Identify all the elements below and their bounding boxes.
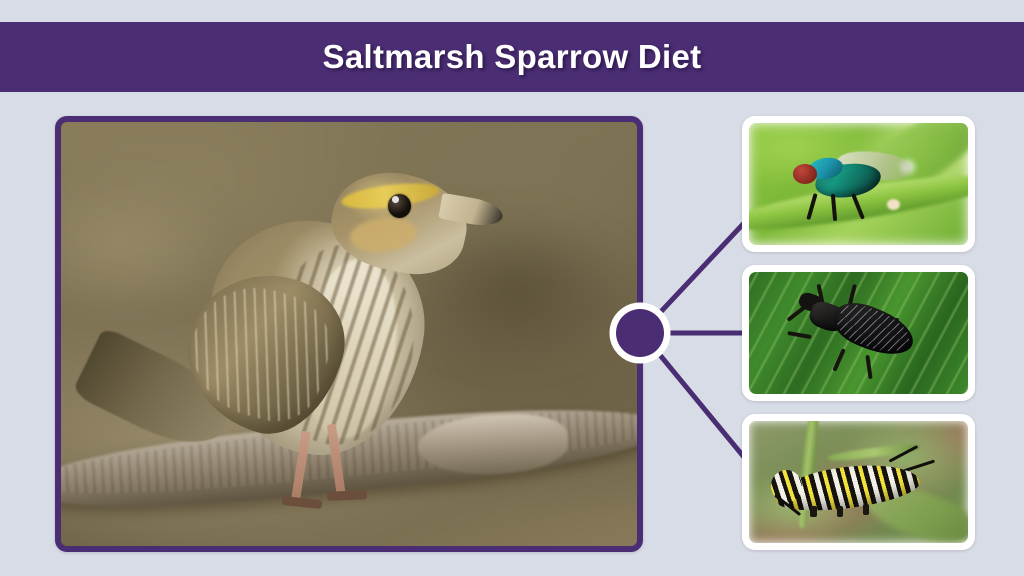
diet-item-caterpillar[interactable] <box>742 414 975 550</box>
diet-item-fly[interactable] <box>742 116 975 252</box>
fly-photo <box>749 123 968 245</box>
connector-to-fly <box>655 222 745 318</box>
diagram-canvas: Saltmarsh Sparrow Diet <box>0 0 1024 576</box>
page-title: Saltmarsh Sparrow Diet <box>323 38 702 76</box>
caterpillar-proleg-3 <box>863 504 870 515</box>
fly-dew-droplet <box>887 199 900 210</box>
sparrow-photo <box>61 122 637 546</box>
sparrow-eye-highlight <box>392 196 399 203</box>
caterpillar-photo <box>749 421 968 543</box>
title-banner: Saltmarsh Sparrow Diet <box>0 22 1024 92</box>
caterpillar-proleg-2 <box>837 506 844 517</box>
sparrow-foot-left <box>282 496 323 509</box>
main-sparrow-image <box>55 116 643 552</box>
connector-to-caterpillar <box>655 349 748 462</box>
diet-item-beetle[interactable] <box>742 265 975 401</box>
beetle-photo <box>749 272 968 394</box>
fly-eye <box>793 164 817 184</box>
sparrow-figure <box>107 147 556 520</box>
caterpillar-proleg-1 <box>810 506 817 517</box>
sparrow-foot-right <box>327 490 368 500</box>
